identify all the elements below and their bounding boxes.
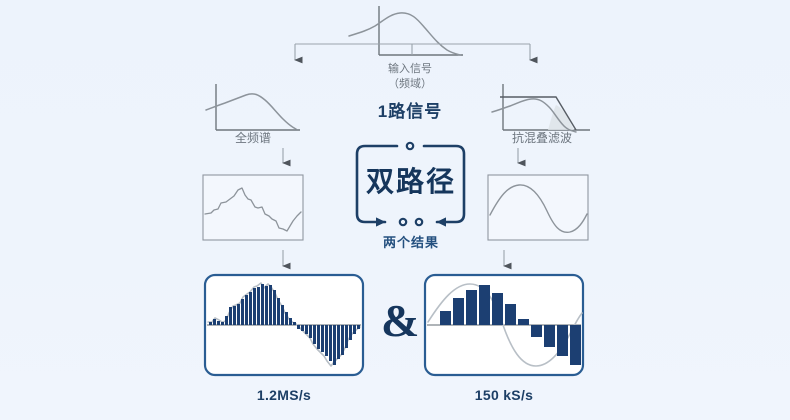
input-signal-caption-line2: （频域）	[360, 77, 460, 91]
ampersand-separator: &	[381, 298, 419, 344]
input-signal-caption-line1: 输入信号	[360, 62, 460, 76]
diagram-canvas: 输入信号 （频域） 1路信号 全频谱 抗混叠滤波 双路径 两个结果 & 1.2M…	[0, 0, 790, 420]
top-branch-connectors	[295, 44, 530, 60]
high-rate-label: 1.2MS/s	[214, 387, 354, 403]
anti-aliasing-filter-chart	[492, 84, 590, 132]
full-spectrum-caption: 全频谱	[208, 131, 298, 145]
one-signal-headline: 1路信号	[350, 97, 470, 122]
high-rate-sampled-waveform-panel	[205, 275, 363, 375]
dual-path-badge-label: 双路径	[352, 160, 470, 200]
full-spectrum-chart	[206, 84, 300, 130]
row-connector-arrows-lower	[283, 250, 504, 266]
low-rate-sampled-waveform-panel	[425, 275, 594, 375]
sine-time-waveform-chart	[488, 175, 588, 240]
noisy-time-waveform-chart	[203, 175, 303, 240]
two-results-label: 两个结果	[355, 232, 467, 251]
low-rate-label: 150 kS/s	[434, 387, 574, 403]
input-signal-frequency-domain-chart	[349, 6, 463, 55]
anti-aliasing-filter-caption: 抗混叠滤波	[492, 131, 592, 145]
